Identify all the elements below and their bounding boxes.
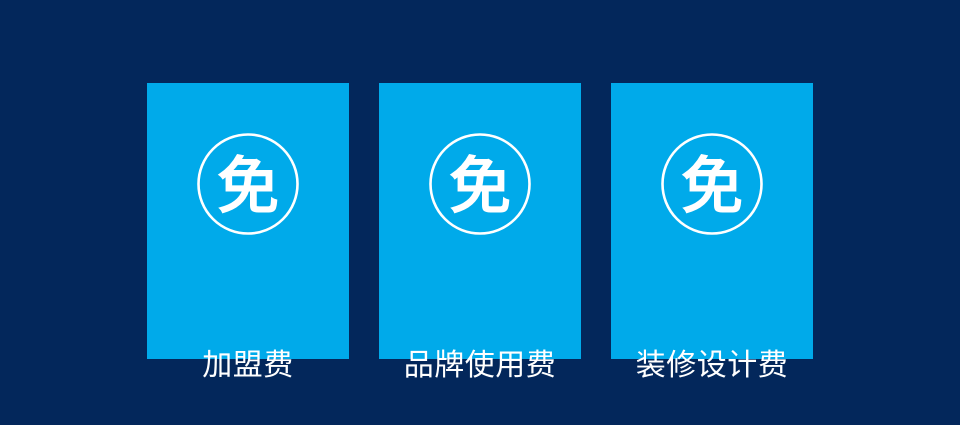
promo-banner: 免 加盟费 免 品牌使用费 免 装修设计费 xyxy=(0,0,960,425)
free-circle-icon: 免 xyxy=(428,132,532,236)
free-glyph-text: 免 xyxy=(217,150,279,223)
benefit-card-row: 免 加盟费 免 品牌使用费 免 装修设计费 xyxy=(147,83,813,359)
free-circle-icon: 免 xyxy=(660,132,764,236)
free-glyph-text: 免 xyxy=(681,150,743,223)
benefit-card-franchise-fee[interactable]: 免 加盟费 xyxy=(147,83,349,359)
benefit-card-brand-usage-fee[interactable]: 免 品牌使用费 xyxy=(379,83,581,359)
benefit-card-label: 装修设计费 xyxy=(611,349,813,383)
benefit-card-decoration-design-fee[interactable]: 免 装修设计费 xyxy=(611,83,813,359)
benefit-card-label: 加盟费 xyxy=(147,349,349,383)
free-circle-icon: 免 xyxy=(196,132,300,236)
benefit-card-label: 品牌使用费 xyxy=(379,349,581,383)
free-glyph-text: 免 xyxy=(449,150,511,223)
